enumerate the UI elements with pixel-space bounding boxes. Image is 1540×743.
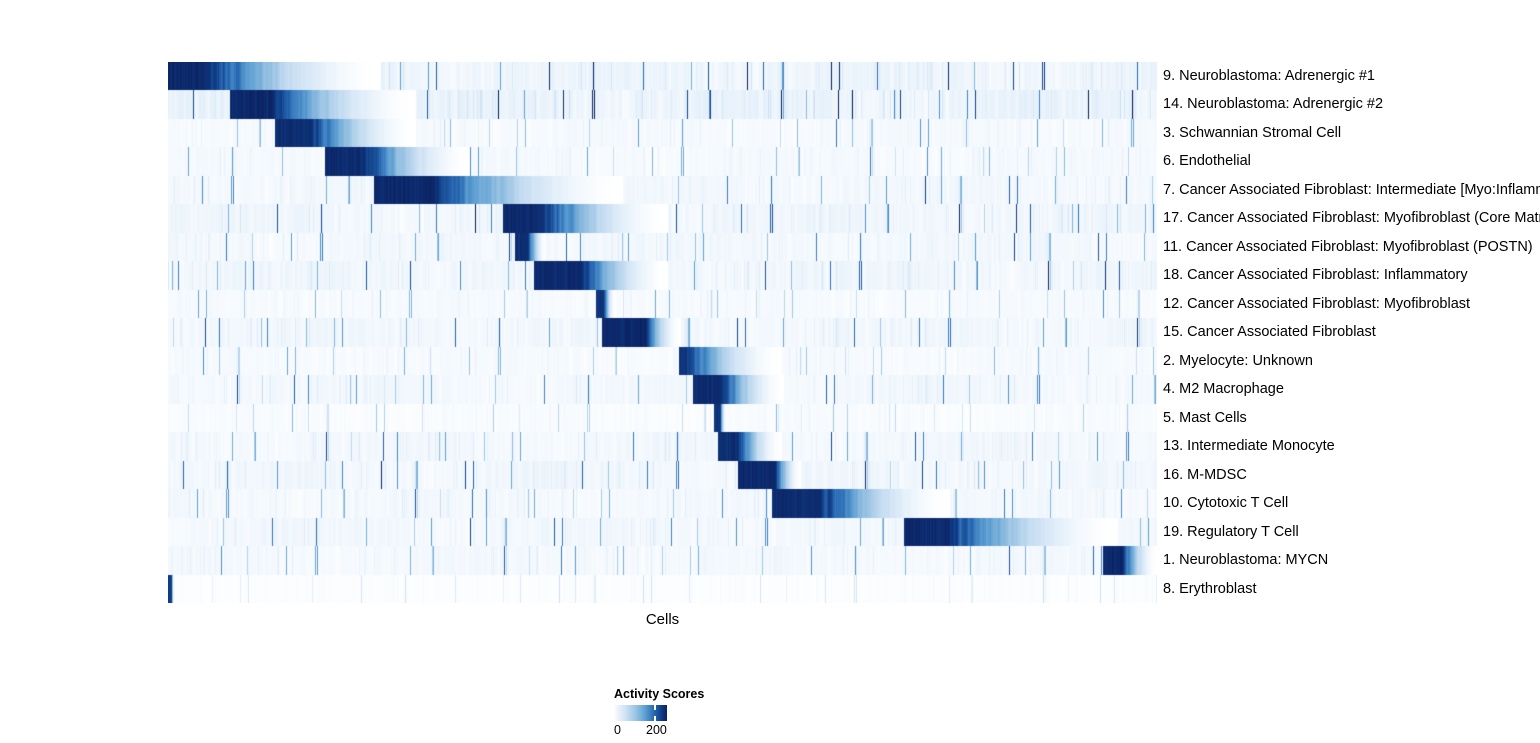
legend-tick-labels: 0 200 [614,722,714,738]
heatmap-row-label: 7. Cancer Associated Fibroblast: Interme… [1163,176,1540,204]
legend-tick-label-0: 0 [614,722,621,738]
legend-tick-mark-bottom [654,716,656,721]
heatmap-row-label: 18. Cancer Associated Fibroblast: Inflam… [1163,261,1468,289]
heatmap-row-label: 9. Neuroblastoma: Adrenergic #1 [1163,62,1375,90]
heatmap-row-label: 12. Cancer Associated Fibroblast: Myofib… [1163,290,1470,318]
gep-activity-heatmap-figure: GEPs Cells 9. Neuroblastoma: Adrenergic … [0,0,1540,743]
legend-title: Activity Scores [614,686,814,702]
heatmap-row-label: 11. Cancer Associated Fibroblast: Myofib… [1163,233,1533,261]
heatmap-plot-area[interactable] [168,62,1157,603]
heatmap-row-label: 2. Myelocyte: Unknown [1163,347,1313,375]
heatmap-row-label: 19. Regulatory T Cell [1163,518,1299,546]
heatmap-row-label: 3. Schwannian Stromal Cell [1163,119,1341,147]
heatmap-row-label: 8. Erythroblast [1163,575,1257,603]
heatmap-row-label: 5. Mast Cells [1163,404,1247,432]
heatmap-row-label: 15. Cancer Associated Fibroblast [1163,318,1376,346]
x-axis-title: Cells [168,611,1157,628]
heatmap-row-label: 13. Intermediate Monocyte [1163,432,1335,460]
legend-colorbar-gradient [614,705,667,721]
heatmap-row-label: 4. M2 Macrophage [1163,375,1284,403]
heatmap-row-label: 16. M-MDSC [1163,461,1247,489]
legend-colorbar-wrap[interactable] [614,705,667,721]
heatmap-row-label: 14. Neuroblastoma: Adrenergic #2 [1163,90,1383,118]
heatmap-row-label: 6. Endothelial [1163,147,1251,175]
heatmap-row-labels: 9. Neuroblastoma: Adrenergic #114. Neuro… [1163,62,1540,603]
heatmap-row-label: 10. Cytotoxic T Cell [1163,489,1288,517]
legend-tick-label-200: 200 [646,722,667,738]
heatmap-row-label: 1. Neuroblastoma: MYCN [1163,546,1328,574]
x-axis-title-text: Cells [646,611,679,628]
heatmap-canvas[interactable] [168,62,1157,603]
activity-scores-legend: Activity Scores 0 200 [614,686,814,738]
heatmap-row-label: 17. Cancer Associated Fibroblast: Myofib… [1163,204,1540,232]
legend-tick-mark-top [654,705,656,710]
